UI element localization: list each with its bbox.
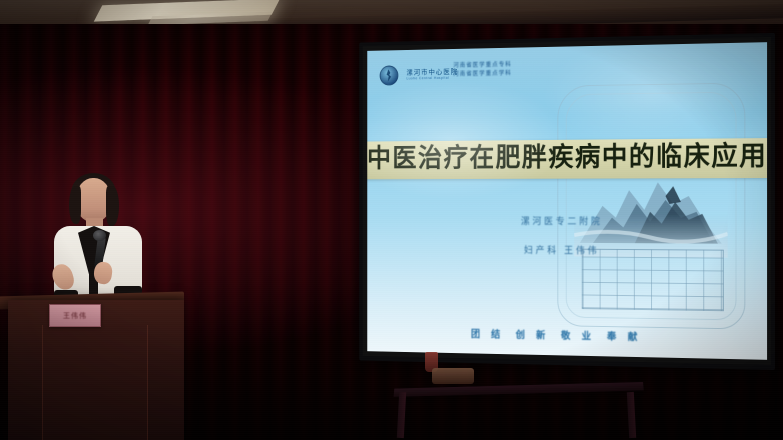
- slide-title-banner: 中医治疗在肥胖疾病中的临床应用: [367, 138, 767, 179]
- slide-title: 中医治疗在肥胖疾病中的临床应用: [367, 141, 767, 174]
- motto-char-7: 奉: [607, 332, 618, 343]
- motto-char-1: 团: [471, 329, 482, 340]
- speaker-name-card-text: 王伟伟: [63, 311, 87, 321]
- motto-char-5: 敬: [561, 331, 572, 342]
- presenter-hair-right: [106, 186, 119, 226]
- table-object: [432, 368, 474, 384]
- presenter-hair-left: [69, 186, 81, 224]
- slide-header-brand: 漯河市中心医院 Luohe Central Hospital: [380, 64, 459, 85]
- motto-char-3: 创: [516, 330, 527, 341]
- motto-char-4: 新: [536, 331, 547, 342]
- motto-char-6: 业: [582, 331, 593, 342]
- hospital-subtitle: 河南省医学重点专科 河南省医学重点学科: [453, 61, 511, 80]
- motto-char-2: 结: [491, 330, 502, 341]
- hospital-name-block: 漯河市中心医院 Luohe Central Hospital: [406, 69, 458, 81]
- slide-subtitle-presenter: 妇产科 王伟伟: [367, 242, 767, 258]
- chinese-window-frame: [557, 82, 745, 329]
- hospital-logo-icon: [380, 65, 399, 85]
- presenter: [44, 178, 156, 310]
- lattice-window-grid: [582, 249, 724, 312]
- hospital-name-en: Luohe Central Hospital: [406, 76, 458, 81]
- speaker-name-card: 王伟伟: [49, 304, 101, 327]
- projection-screen-frame: 漯河市中心医院 Luohe Central Hospital 河南省医学重点专科…: [359, 33, 775, 370]
- slide-subtitle-institution: 漯河医专二附院: [367, 213, 767, 228]
- microphone-head-icon: [93, 230, 106, 241]
- projection-screen: 漯河市中心医院 Luohe Central Hospital 河南省医学重点专科…: [367, 42, 767, 360]
- presentation-photo-scene: 漯河市中心医院 Luohe Central Hospital 河南省医学重点专科…: [0, 0, 783, 440]
- podium-front-panel: [42, 325, 148, 440]
- motto-char-8: 献: [628, 332, 639, 343]
